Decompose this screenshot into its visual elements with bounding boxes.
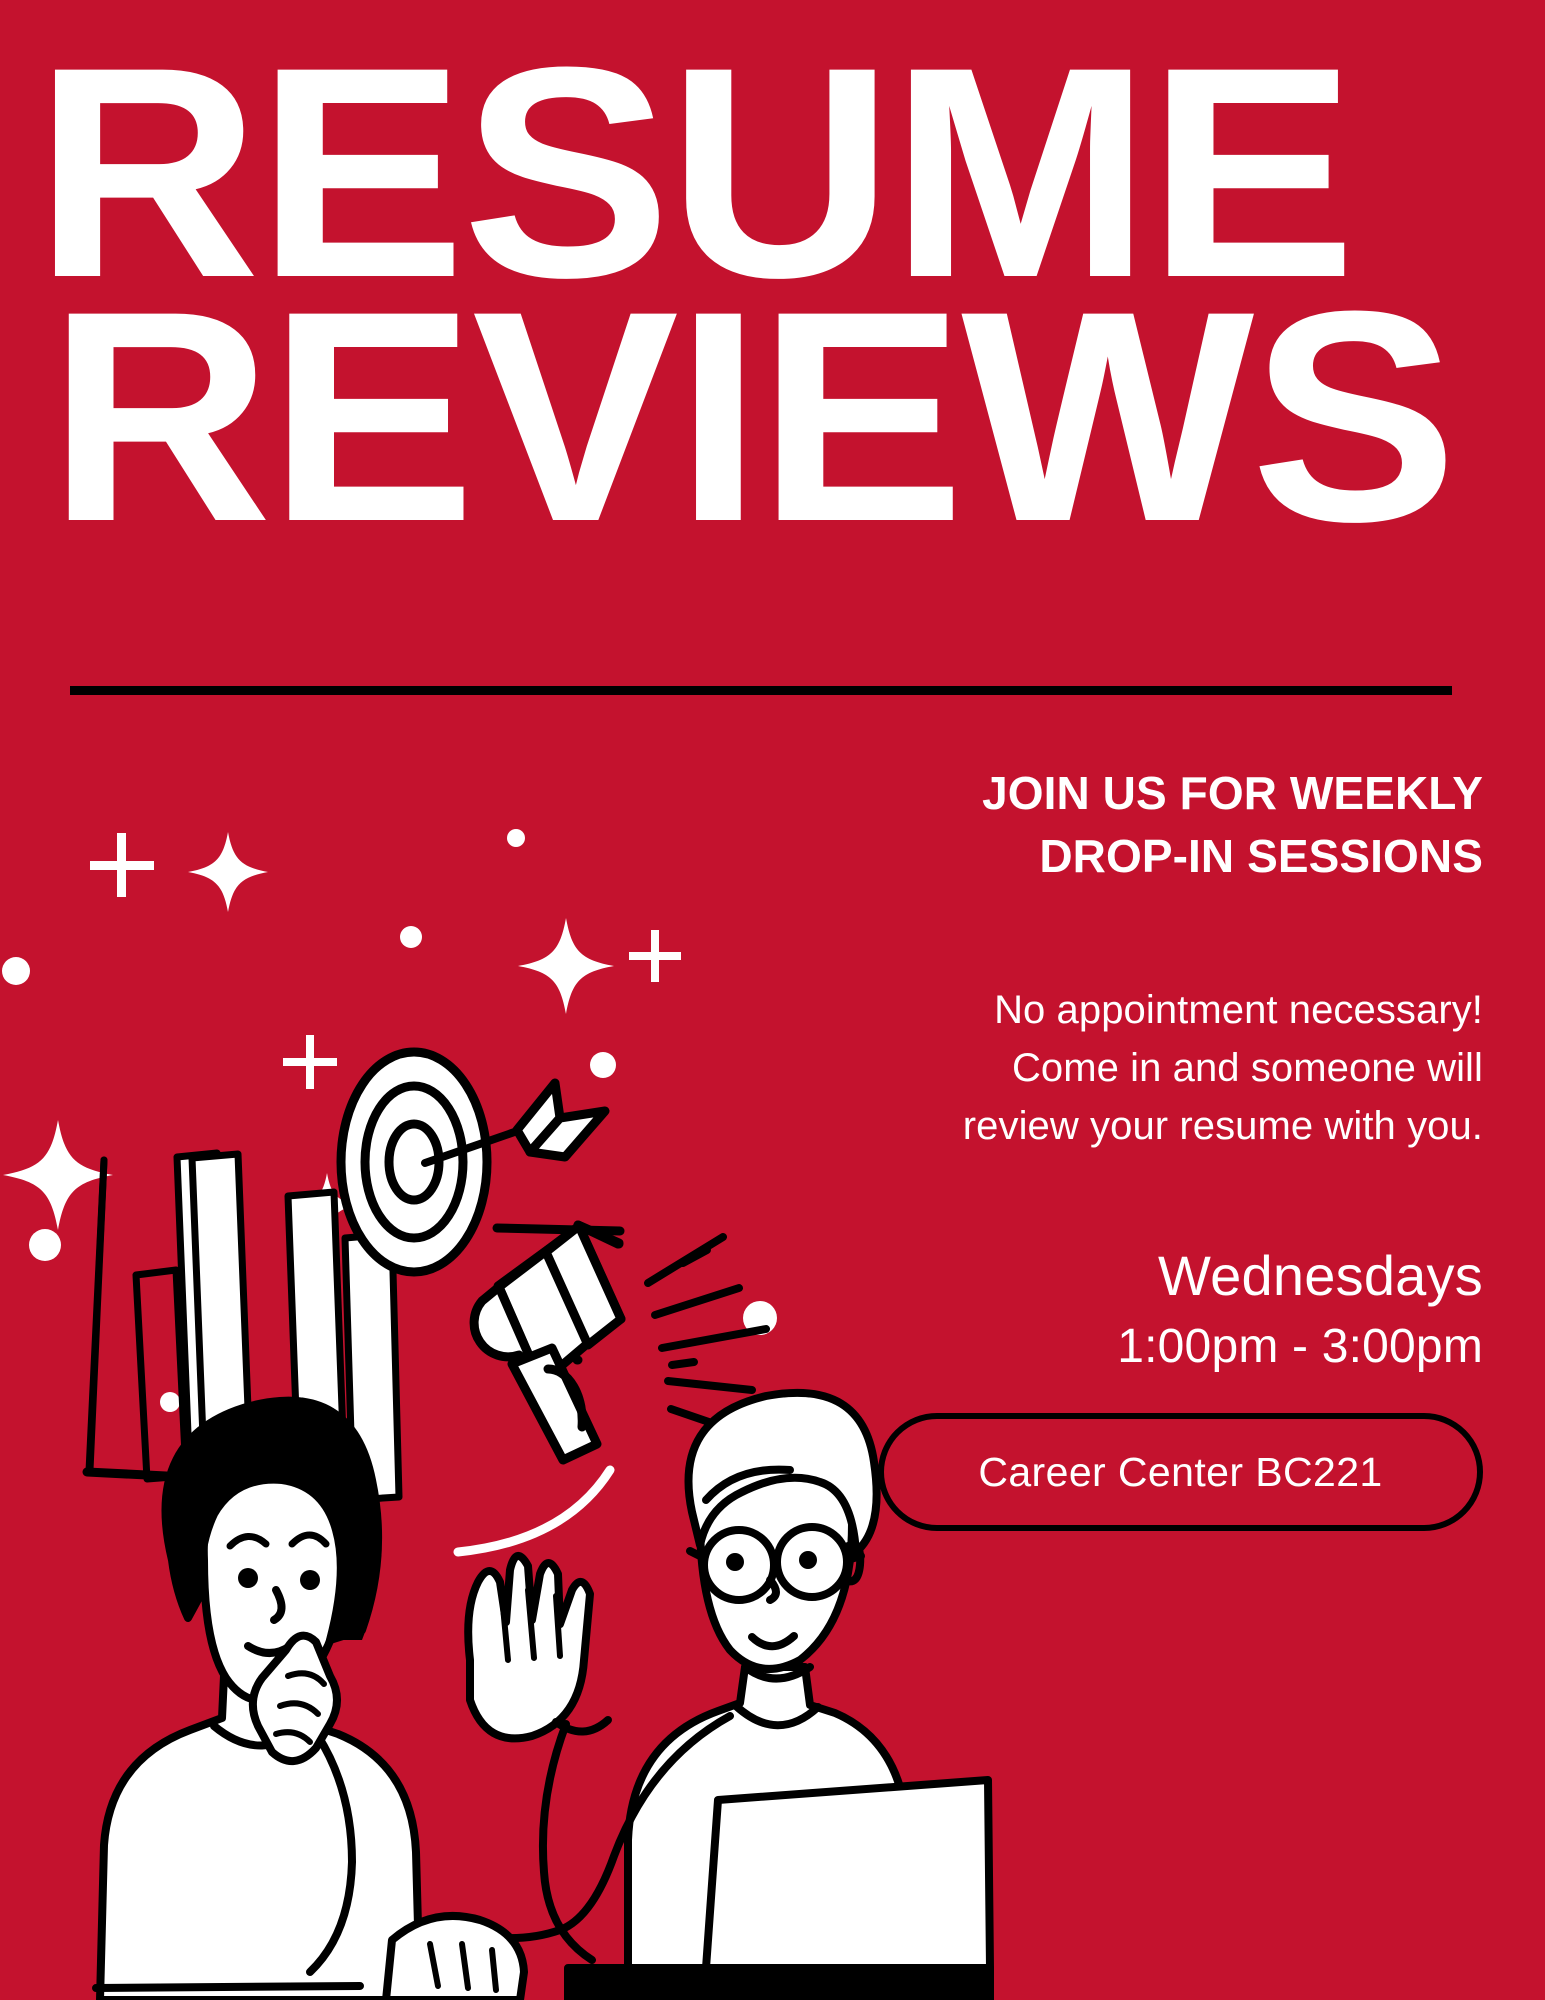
poster-canvas: RESUME REVIEWS xyxy=(0,0,1545,2000)
plus-icon xyxy=(629,930,681,982)
target-with-arrow-icon xyxy=(341,1052,605,1272)
bar-chart-axis xyxy=(90,1160,104,1470)
title-divider-rule xyxy=(70,686,1452,695)
person-thinking-illustration xyxy=(100,1401,524,2000)
decor-group xyxy=(2,829,777,1481)
kicker-line-1: JOIN US FOR WEEKLY xyxy=(843,762,1483,825)
diamond-icon xyxy=(354,1441,394,1481)
location-pill-label: Career Center BC221 xyxy=(978,1449,1382,1496)
dot-icon xyxy=(400,926,422,948)
megaphone-icon xyxy=(458,1225,776,1552)
description-line-2: Come in and someone will xyxy=(843,1039,1483,1097)
dot-icon xyxy=(507,829,525,847)
sparkle-icon xyxy=(518,918,614,1014)
laptop-icon xyxy=(568,1780,990,2000)
kicker-heading: JOIN US FOR WEEKLY DROP-IN SESSIONS xyxy=(843,762,1483,889)
sparkle-icon xyxy=(3,1120,113,1230)
schedule-day: Wednesdays xyxy=(843,1245,1483,1307)
description-text: No appointment necessary! Come in and so… xyxy=(843,981,1483,1155)
bar-chart-icon xyxy=(87,1153,399,1500)
desk-icon xyxy=(96,1986,360,1988)
plus-icon xyxy=(90,833,154,897)
dot-icon xyxy=(160,1392,180,1412)
plus-icon xyxy=(283,1035,337,1089)
description-line-1: No appointment necessary! xyxy=(843,981,1483,1039)
dot-icon xyxy=(2,957,30,985)
location-pill[interactable]: Career Center BC221 xyxy=(878,1413,1483,1531)
sparkle-icon xyxy=(295,1173,359,1237)
schedule-time: 1:00pm - 3:00pm xyxy=(843,1321,1483,1374)
info-column: JOIN US FOR WEEKLY DROP-IN SESSIONS No a… xyxy=(843,762,1483,1531)
dot-icon xyxy=(743,1301,777,1335)
dot-icon xyxy=(590,1052,616,1078)
title-line-reviews: REVIEWS xyxy=(48,296,1545,536)
poster-title: RESUME REVIEWS xyxy=(0,52,1545,536)
dot-icon xyxy=(29,1229,61,1261)
kicker-line-2: DROP-IN SESSIONS xyxy=(843,825,1483,888)
description-line-3: review your resume with you. xyxy=(843,1097,1483,1155)
sparkle-icon xyxy=(188,832,268,912)
